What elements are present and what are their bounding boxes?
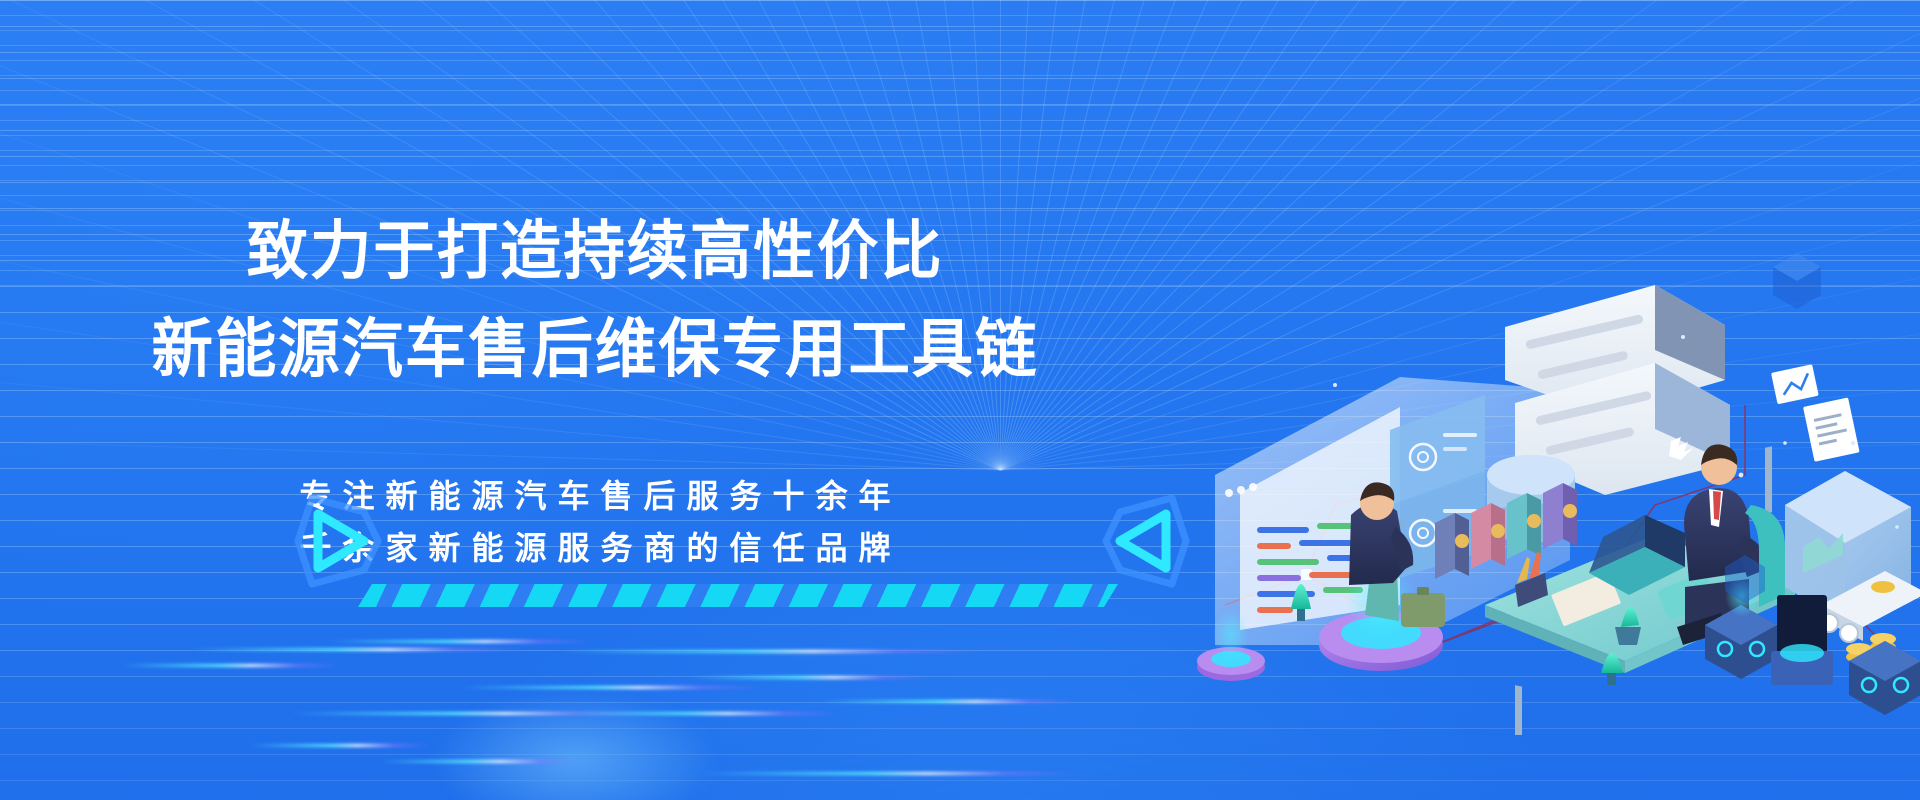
coffee-machine [1771,595,1833,685]
light-streak [700,772,1080,775]
light-streak [460,686,760,689]
subtitle-line-1: 专注新能源汽车售后服务十余年 [0,470,1190,522]
play-left-arrow-icon [1100,492,1192,590]
light-streak [560,650,980,653]
subtitle-block: 专注新能源汽车售后服务十余年 千余家新能源服务商的信任品牌 [0,470,1190,574]
headline-line-1: 致力于打造持续高性价比 [24,220,1166,284]
light-streak [190,648,520,651]
gold-coin [1871,581,1895,593]
play-right-arrow-icon [292,492,384,590]
light-streak [560,712,840,715]
hero-banner: 致力于打造持续高性价比 新能源汽车售后维保专用工具链 专注新能源汽车售后服务十余… [0,0,1920,800]
floating-document [1771,364,1860,462]
headline-line-2: 新能源汽车售后维保专用工具链 [24,318,1166,382]
floor-glow-blob [430,690,720,800]
light-streak [120,664,340,667]
diagonal-stripe-bar [358,584,1118,607]
light-streak [250,744,430,747]
light-streak [330,640,590,643]
light-streak [290,712,650,715]
floating-cube [1773,253,1821,309]
isometric-office-teamwork-illustration [1185,175,1920,735]
light-streak [690,676,930,679]
briefcase-icon [1401,593,1445,627]
subtitle-line-2: 千余家新能源服务商的信任品牌 [0,522,1190,574]
light-streak [820,700,1080,703]
light-streak [380,760,580,763]
